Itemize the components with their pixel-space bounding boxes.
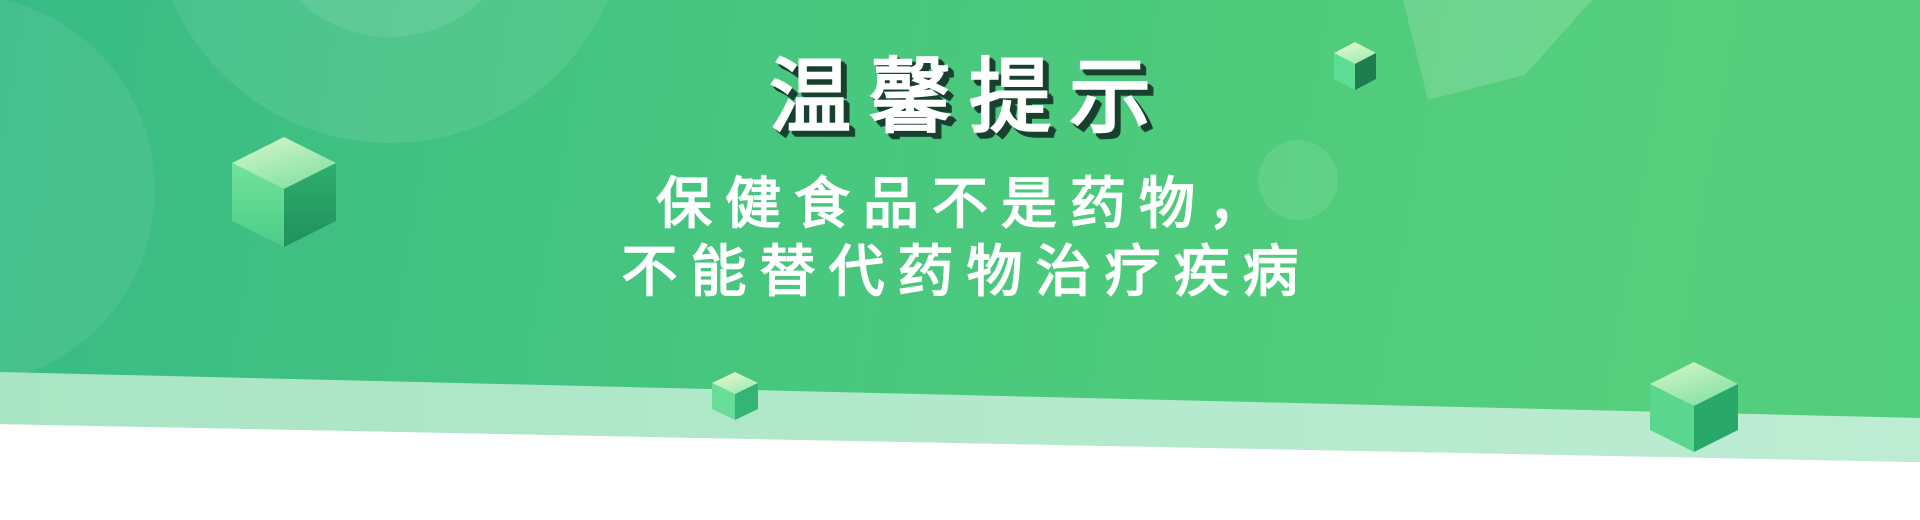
promo-banner: 温馨提示 保健食品不是药物， 不能替代药物治疗疾病 [0, 0, 1920, 520]
cube-left-decoration [232, 137, 336, 247]
cube-top-right-decoration [1334, 42, 1376, 90]
circle-right-small [1258, 140, 1338, 220]
polygon-top-right [1398, 0, 1610, 100]
background-decorations [0, 0, 1920, 520]
circle-left-edge [0, 0, 155, 385]
